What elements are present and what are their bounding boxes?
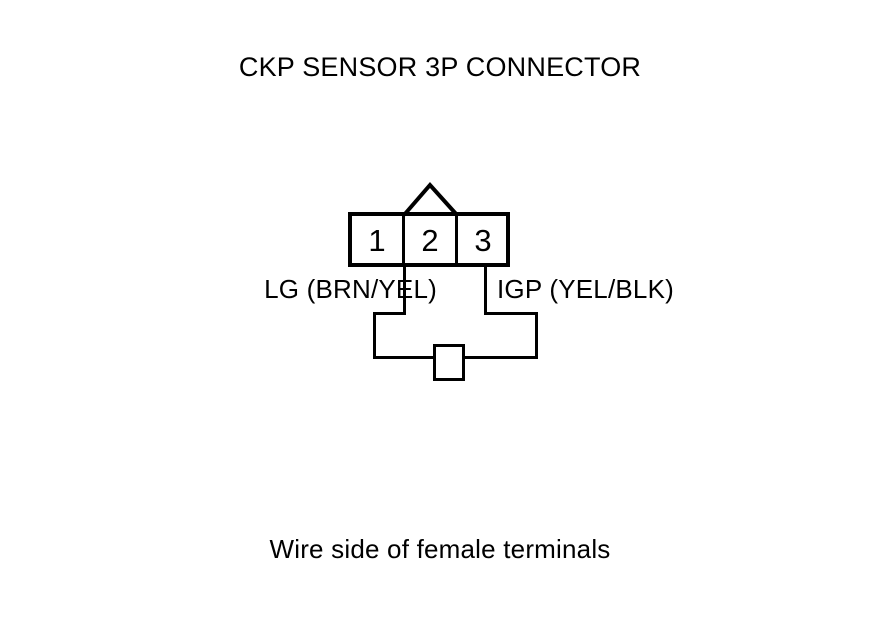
- pin-number-3: 3: [456, 222, 510, 260]
- diagram-canvas: CKP SENSOR 3P CONNECTOR 1 2 3 LG (BRN/YE…: [0, 0, 880, 630]
- diagram-caption: Wire side of female terminals: [0, 534, 880, 565]
- probe-box: [435, 346, 464, 380]
- keying-tab-triangle-icon: [404, 185, 457, 215]
- wire-label-right: IGP (YEL/BLK): [497, 274, 880, 305]
- pin-number-1: 1: [350, 222, 404, 260]
- wire-label-left: LG (BRN/YEL): [0, 274, 437, 305]
- pin-number-2: 2: [403, 222, 457, 260]
